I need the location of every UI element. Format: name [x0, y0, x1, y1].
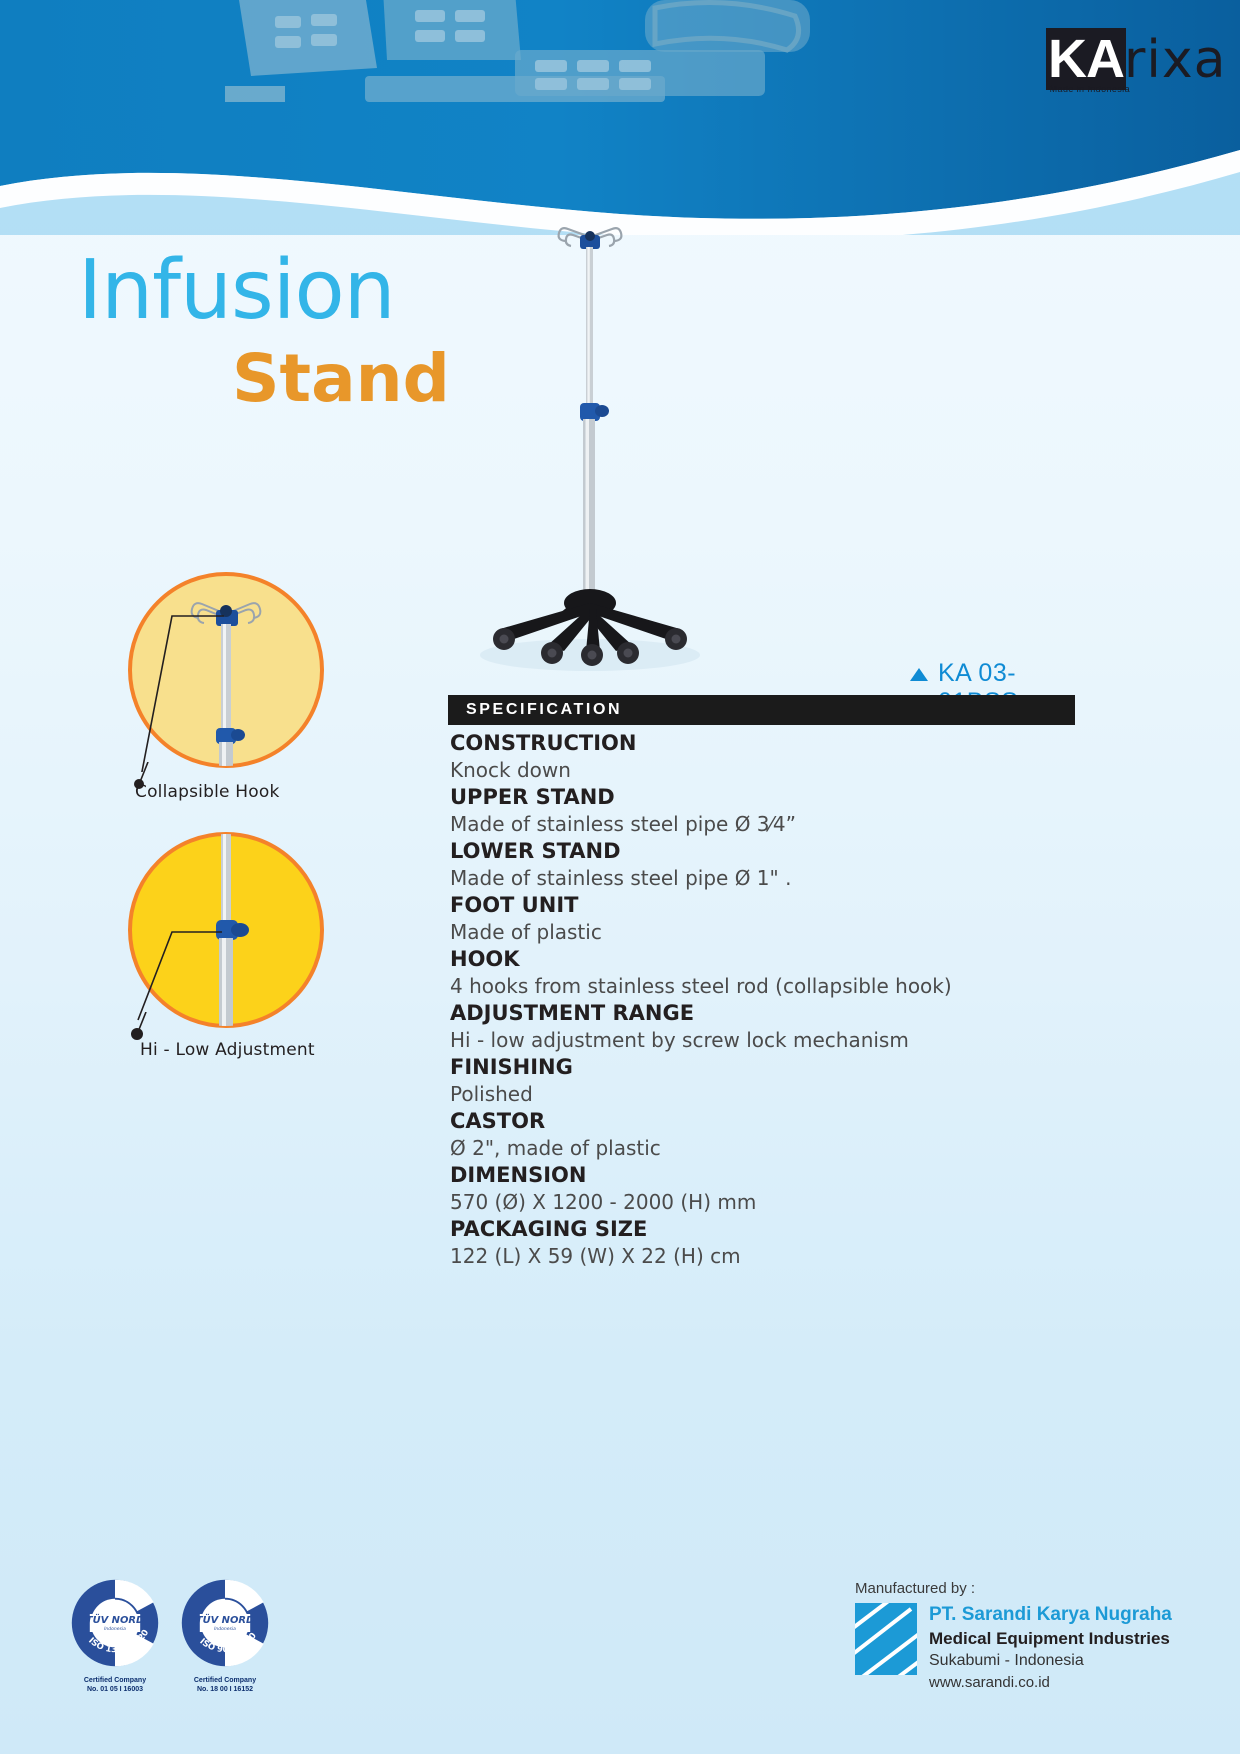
spec-term: LOWER STAND: [450, 838, 1090, 865]
spec-description: 4 hooks from stainless steel rod (collap…: [450, 973, 1090, 1000]
brand-made-in-label: Made in Indonesia: [1010, 84, 1130, 94]
certification-company-text: Certified Company No. 18 00 I 16152: [180, 1676, 270, 1694]
spec-description: Polished: [450, 1081, 1090, 1108]
certification-line2: No. 18 00 I 16152: [180, 1685, 270, 1694]
tuv-nord-seal-icon: TÜV NORD Indonesia ISO 9001 : 2015: [180, 1578, 270, 1668]
detail-caption-hi-low-adjustment: Hi - Low Adjustment: [140, 1040, 315, 1060]
spec-description: Made of stainless steel pipe Ø 1" .: [450, 865, 1090, 892]
specification-header-bar: SPECIFICATION: [448, 695, 1075, 725]
spec-description: Ø 2", made of plastic: [450, 1135, 1090, 1162]
manufactured-by-label: Manufactured by :: [855, 1580, 1185, 1597]
spec-description: Made of plastic: [450, 919, 1090, 946]
svg-text:Indonesia: Indonesia: [214, 1626, 236, 1632]
spec-description: Hi - low adjustment by screw lock mechan…: [450, 1027, 1090, 1054]
spec-term: FINISHING: [450, 1054, 1090, 1081]
svg-text:Indonesia: Indonesia: [104, 1626, 126, 1632]
spec-description: 122 (L) X 59 (W) X 22 (H) cm: [450, 1243, 1090, 1270]
certification-line1: Certified Company: [180, 1676, 270, 1685]
spec-description: Made of stainless steel pipe Ø 3⁄4”: [450, 811, 1090, 838]
page-header: KA rixa Made in Indonesia: [0, 0, 1240, 235]
certification-line1: Certified Company: [70, 1676, 160, 1685]
detail-illustration-collapsible-hook: [128, 572, 328, 772]
model-code-row: KA 03-01BSS: [910, 659, 1085, 689]
spec-term: CONSTRUCTION: [450, 730, 1090, 757]
certification-company-text: Certified Company No. 01 05 I 16003: [70, 1676, 160, 1694]
triangle-marker-icon: [910, 668, 928, 681]
certification-line2: No. 01 05 I 16003: [70, 1685, 160, 1694]
manufacturer-block: Manufactured by : PT. Sarandi Karya Nugr…: [855, 1580, 1185, 1693]
product-image-infusion-stand: [440, 215, 740, 685]
specification-list: CONSTRUCTIONKnock downUPPER STANDMade of…: [450, 730, 1090, 1270]
certification-iso-13485: TÜV NORD Indonesia ISO 13485 : 2016 Cert…: [70, 1578, 160, 1694]
page-title-line1: Infusion: [78, 243, 395, 338]
certification-iso-9001: TÜV NORD Indonesia ISO 9001 : 2015 Certi…: [180, 1578, 270, 1694]
specification-header-label: SPECIFICATION: [466, 701, 622, 719]
spec-description: Knock down: [450, 757, 1090, 784]
hospital-bed-photo: [215, 0, 835, 135]
sarandi-logo-icon: [855, 1603, 917, 1675]
manufacturer-location: Sukabumi - Indonesia: [929, 1650, 1172, 1672]
manufacturer-website: www.sarandi.co.id: [929, 1672, 1172, 1693]
spec-description: 570 (Ø) X 1200 - 2000 (H) mm: [450, 1189, 1090, 1216]
brand-logo-mark: KA: [1048, 28, 1124, 90]
certification-logos: TÜV NORD Indonesia ISO 13485 : 2016 Cert…: [70, 1578, 350, 1738]
tuv-nord-seal-icon: TÜV NORD Indonesia ISO 13485 : 2016: [70, 1578, 160, 1668]
spec-term: UPPER STAND: [450, 784, 1090, 811]
page-title-line2: Stand: [232, 340, 450, 417]
detail-illustration-hi-low-adjustment: [128, 832, 328, 1032]
spec-term: FOOT UNIT: [450, 892, 1090, 919]
manufacturer-industry: Medical Equipment Industries: [929, 1627, 1172, 1650]
manufacturer-name: PT. Sarandi Karya Nugraha: [929, 1603, 1172, 1627]
detail-caption-collapsible-hook: Collapsible Hook: [135, 782, 280, 802]
spec-term: CASTOR: [450, 1108, 1090, 1135]
spec-term: PACKAGING SIZE: [450, 1216, 1090, 1243]
brand-logo-word: rixa: [1124, 30, 1226, 90]
spec-term: ADJUSTMENT RANGE: [450, 1000, 1090, 1027]
spec-term: DIMENSION: [450, 1162, 1090, 1189]
spec-term: HOOK: [450, 946, 1090, 973]
